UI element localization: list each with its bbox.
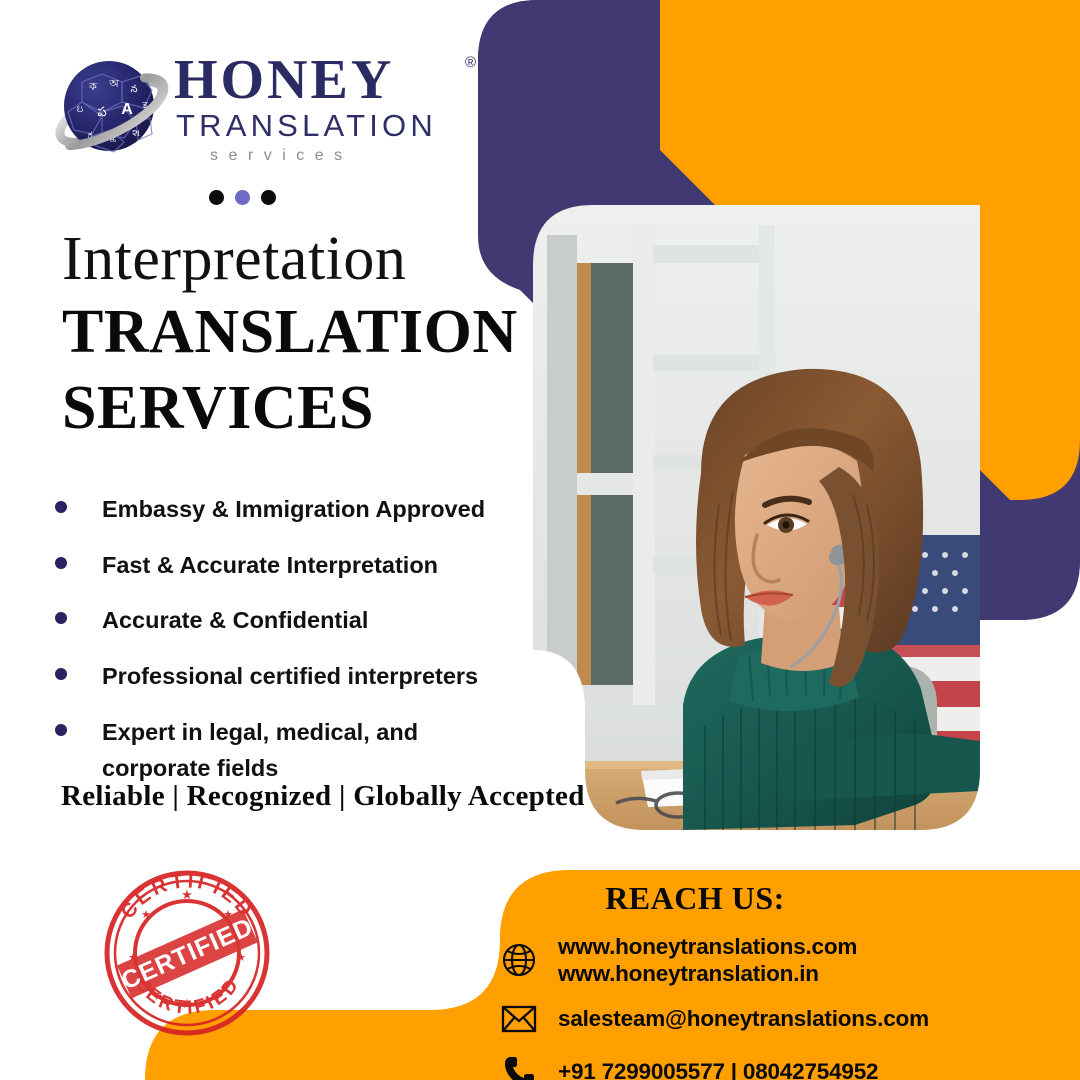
headline-main-2: SERVICES xyxy=(62,376,522,442)
phone-icon xyxy=(496,1050,542,1080)
headline-script: Interpretation xyxy=(62,228,522,290)
logo-wordmark: HONEY® TRANSLATION services xyxy=(174,52,454,165)
list-item: Accurate & Confidential xyxy=(55,603,525,639)
brand-logo[interactable]: ক অ న ઇ ప A ड ಕ க શ HONEY® TRANSLATION s… xyxy=(52,46,452,176)
phone-secondary: 08042754952 xyxy=(743,1059,878,1080)
list-item: Professional certified interpreters xyxy=(55,659,525,695)
bullet-dot-icon xyxy=(55,612,67,624)
envelope-icon xyxy=(496,997,542,1041)
bullet-dot-icon xyxy=(55,668,67,680)
logo-name-secondary: TRANSLATION xyxy=(176,110,454,143)
svg-text:অ: অ xyxy=(108,78,119,90)
phone-separator: | xyxy=(725,1059,743,1080)
bullet-dot-icon xyxy=(55,724,67,736)
feature-text: Professional certified interpreters xyxy=(102,659,478,695)
contact-phone-text: +91 7299005577|08042754952 xyxy=(558,1058,878,1080)
list-item: Embassy & Immigration Approved xyxy=(55,492,525,528)
contact-row-email[interactable]: salesteam@honeytranslations.com xyxy=(440,997,1060,1041)
contact-panel: REACH US: www.honeytranslations.com www.… xyxy=(440,880,1060,1080)
dot-3 xyxy=(261,190,276,205)
svg-text:ప: ప xyxy=(97,104,106,119)
svg-text:A: A xyxy=(121,101,133,118)
purple-corner-block xyxy=(478,0,660,220)
headline-main-1: TRANSLATION xyxy=(62,300,522,366)
decorative-dots xyxy=(209,190,276,205)
contact-website-text: www.honeytranslations.com www.honeytrans… xyxy=(558,933,857,988)
svg-text:શ: શ xyxy=(132,128,140,139)
svg-text:ઇ: ઇ xyxy=(77,104,84,115)
feature-text: Embassy & Immigration Approved xyxy=(102,492,485,528)
phone-primary: +91 7299005577 xyxy=(558,1059,725,1080)
contact-email-text: salesteam@honeytranslations.com xyxy=(558,1005,929,1032)
hero-photo xyxy=(533,205,980,830)
feature-text: Accurate & Confidential xyxy=(102,603,368,639)
contact-row-phone[interactable]: +91 7299005577|08042754952 xyxy=(440,1050,1060,1080)
dot-1 xyxy=(209,190,224,205)
globe-languages-icon: ক অ న ઇ ప A ड ಕ க શ xyxy=(52,50,170,168)
bullet-dot-icon xyxy=(55,501,67,513)
logo-name-tertiary: services xyxy=(210,147,454,165)
contact-row-website[interactable]: www.honeytranslations.com www.honeytrans… xyxy=(440,933,1060,988)
feature-text: Fast & Accurate Interpretation xyxy=(102,548,438,584)
certified-stamp-icon: ★ ★ ★ ★ ★ ★ ★ ★ CERTIFIED CERTIFIED CERT… xyxy=(100,866,275,1041)
feature-list: Embassy & Immigration Approved Fast & Ac… xyxy=(55,492,525,786)
poster-canvas: ক অ న ઇ ప A ड ಕ க શ HONEY® TRANSLATION s… xyxy=(0,0,1080,1080)
bullet-dot-icon xyxy=(55,557,67,569)
website-line-1: www.honeytranslations.com xyxy=(558,934,857,959)
page-title: Interpretation TRANSLATION SERVICES xyxy=(62,228,522,441)
feature-text: Expert in legal, medical, and corporate … xyxy=(102,715,442,786)
list-item: Expert in legal, medical, and corporate … xyxy=(55,715,525,786)
svg-text:ক: ক xyxy=(88,81,97,93)
list-item: Fast & Accurate Interpretation xyxy=(55,548,525,584)
logo-name-primary: HONEY xyxy=(174,52,394,108)
website-line-2: www.honeytranslation.in xyxy=(558,960,857,987)
registered-trademark-icon: ® xyxy=(465,54,476,71)
dot-2 xyxy=(235,190,250,205)
tagline: Reliable | Recognized | Globally Accepte… xyxy=(61,780,585,813)
contact-title: REACH US: xyxy=(440,880,1060,917)
svg-text:★: ★ xyxy=(236,952,246,964)
hero-photo-illustration xyxy=(533,205,980,830)
globe-icon xyxy=(496,938,542,982)
svg-text:న: న xyxy=(130,84,137,95)
